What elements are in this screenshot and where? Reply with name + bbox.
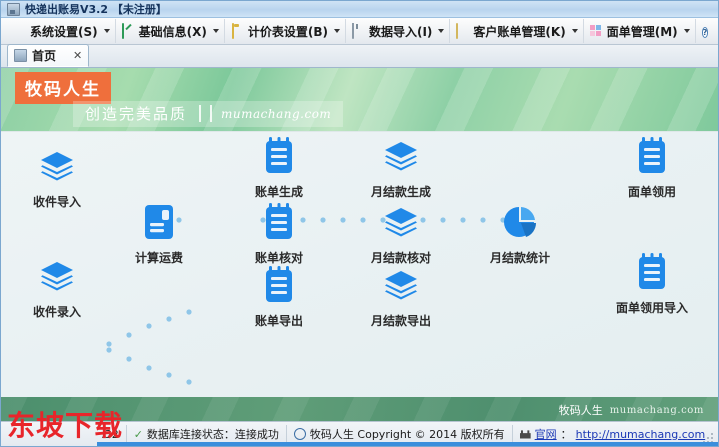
color-squares-icon bbox=[589, 24, 603, 38]
user-icon bbox=[294, 428, 306, 440]
workflow-node-label: 计算运费 bbox=[135, 249, 183, 266]
import-tray-icon bbox=[351, 24, 365, 38]
globe-icon bbox=[520, 430, 531, 439]
content-area: 牧码人生 创造完美品质 mumachang.com bbox=[1, 68, 718, 422]
status-time-text: :32 bbox=[101, 428, 119, 441]
layers-icon bbox=[381, 134, 421, 178]
footer-brand-name: 牧码人生 bbox=[559, 402, 603, 418]
status-db-text: 数据库连接状态：连接成功 bbox=[147, 426, 279, 442]
help-circle-icon: ? bbox=[701, 24, 715, 38]
menu-customer-bill-management[interactable]: 客户账单管理(K) bbox=[449, 19, 582, 43]
chevron-down-icon[interactable] bbox=[684, 29, 690, 33]
chevron-down-icon[interactable] bbox=[438, 29, 444, 33]
workflow-node-bill-check[interactable]: 账单核对 bbox=[233, 200, 325, 266]
workflow-node-monthly-check[interactable]: 月结款核对 bbox=[355, 200, 447, 266]
close-icon[interactable]: ✕ bbox=[73, 49, 82, 62]
workflow-node-label: 月结款统计 bbox=[490, 249, 550, 266]
pencil-edit-icon bbox=[121, 24, 135, 38]
status-db-connection: ✓ 数据库连接状态：连接成功 bbox=[126, 425, 286, 443]
menu-label: 客户账单管理(K) bbox=[473, 23, 565, 40]
status-site-label[interactable]: 官网 bbox=[535, 426, 557, 442]
workflow-node-label: 面单领用导入 bbox=[616, 299, 688, 316]
check-icon: ✓ bbox=[134, 428, 143, 441]
workflow-node-receive-entry[interactable]: 收件录入 bbox=[11, 254, 103, 320]
menu-label: 系统设置(S) bbox=[30, 23, 98, 40]
pie-chart-icon bbox=[500, 200, 540, 244]
tagline-text: 创造完美品质 bbox=[85, 103, 187, 124]
taskbar-strip bbox=[97, 442, 719, 446]
menu-label: 基础信息(X) bbox=[139, 23, 207, 40]
tab-strip: 首页 ✕ bbox=[1, 45, 718, 68]
clipboard-icon bbox=[635, 250, 669, 294]
footer-brand-band: 牧码人生 mumachang.com bbox=[1, 397, 718, 422]
tagline-url: mumachang.com bbox=[221, 107, 331, 121]
tab-label: 首页 bbox=[32, 47, 56, 64]
menu-basic-info[interactable]: 基础信息(X) bbox=[115, 19, 224, 43]
workflow-node-label: 月结款生成 bbox=[371, 183, 431, 200]
workflow-node-monthly-statistics[interactable]: 月结款统计 bbox=[474, 200, 566, 266]
workflow-node-calc-freight[interactable]: 计算运费 bbox=[113, 200, 205, 266]
layers-icon bbox=[381, 263, 421, 307]
workflow-node-bill-generate[interactable]: 账单生成 bbox=[233, 134, 325, 200]
clipboard-icon bbox=[262, 263, 296, 307]
status-site-separator: ： bbox=[561, 426, 572, 442]
status-site-url[interactable]: http://mumachang.com bbox=[576, 428, 706, 441]
workflow-node-label: 收件导入 bbox=[33, 193, 81, 210]
menu-data-import[interactable]: 数据导入(I) bbox=[345, 19, 449, 43]
tab-home[interactable]: 首页 ✕ bbox=[7, 44, 89, 67]
workflow-canvas: 收件导入 收件录入 bbox=[1, 131, 718, 422]
folder-icon bbox=[455, 24, 469, 38]
layers-icon bbox=[37, 254, 77, 298]
workflow-node-waybill-requisition-import[interactable]: 面单领用导入 bbox=[606, 250, 698, 316]
menu-price-table-settings[interactable]: 计价表设置(B) bbox=[224, 19, 345, 43]
chevron-down-icon[interactable] bbox=[213, 29, 219, 33]
workflow-node-waybill-requisition[interactable]: 面单领用 bbox=[606, 134, 698, 200]
home-tab-icon bbox=[14, 49, 27, 62]
menu-help[interactable]: ? 帮助(H) bbox=[695, 19, 719, 43]
status-copyright: 牧码人生 Copyright © 2014 版权所有 bbox=[286, 425, 512, 443]
workflow-node-label: 收件录入 bbox=[33, 303, 81, 320]
workflow-node-label: 账单导出 bbox=[255, 312, 303, 329]
clipboard-icon bbox=[230, 24, 244, 38]
menu-label: 数据导入(I) bbox=[369, 23, 432, 40]
clipboard-icon bbox=[262, 200, 296, 244]
status-time: :32 bbox=[1, 425, 126, 443]
red-circle-icon bbox=[12, 24, 26, 38]
hero-banner: 牧码人生 创造完美品质 mumachang.com bbox=[1, 68, 718, 131]
chevron-down-icon[interactable] bbox=[104, 29, 110, 33]
workflow-node-monthly-export[interactable]: 月结款导出 bbox=[355, 263, 447, 329]
chevron-down-icon[interactable] bbox=[572, 29, 578, 33]
clipboard-icon bbox=[635, 134, 669, 178]
tagline-separator bbox=[199, 105, 212, 122]
workflow-node-label: 账单生成 bbox=[255, 183, 303, 200]
clipboard-icon bbox=[262, 134, 296, 178]
app-icon bbox=[7, 3, 20, 16]
status-website[interactable]: 官网 ： http://mumachang.com bbox=[512, 425, 713, 443]
menu-waybill-management[interactable]: 面单管理(M) bbox=[583, 19, 695, 43]
book-icon bbox=[141, 200, 177, 244]
application-window: 快递出账易V3.2 【未注册】 系统设置(S) 基础信息(X) 计价表设置(B)… bbox=[0, 0, 719, 447]
status-copyright-text: 牧码人生 Copyright © 2014 版权所有 bbox=[310, 426, 505, 442]
menu-label: 计价表设置(B) bbox=[248, 23, 328, 40]
menu-bar: 系统设置(S) 基础信息(X) 计价表设置(B) 数据导入(I) 客户账单管理(… bbox=[1, 18, 718, 45]
window-title: 快递出账易V3.2 【未注册】 bbox=[25, 1, 167, 17]
brand-logo: 牧码人生 bbox=[15, 72, 111, 104]
workflow-node-receive-import[interactable]: 收件导入 bbox=[11, 144, 103, 210]
footer-brand-url: mumachang.com bbox=[610, 405, 704, 416]
tagline-bar: 创造完美品质 mumachang.com bbox=[73, 101, 343, 127]
workflow-node-monthly-generate[interactable]: 月结款生成 bbox=[355, 134, 447, 200]
title-bar: 快递出账易V3.2 【未注册】 bbox=[1, 1, 718, 18]
workflow-node-bill-export[interactable]: 账单导出 bbox=[233, 263, 325, 329]
workflow-node-label: 面单领用 bbox=[628, 183, 676, 200]
workflow-node-label: 月结款导出 bbox=[371, 312, 431, 329]
menu-system-settings[interactable]: 系统设置(S) bbox=[7, 19, 115, 43]
chevron-down-icon[interactable] bbox=[334, 29, 340, 33]
layers-icon bbox=[381, 200, 421, 244]
menu-label: 面单管理(M) bbox=[607, 23, 678, 40]
layers-icon bbox=[37, 144, 77, 188]
